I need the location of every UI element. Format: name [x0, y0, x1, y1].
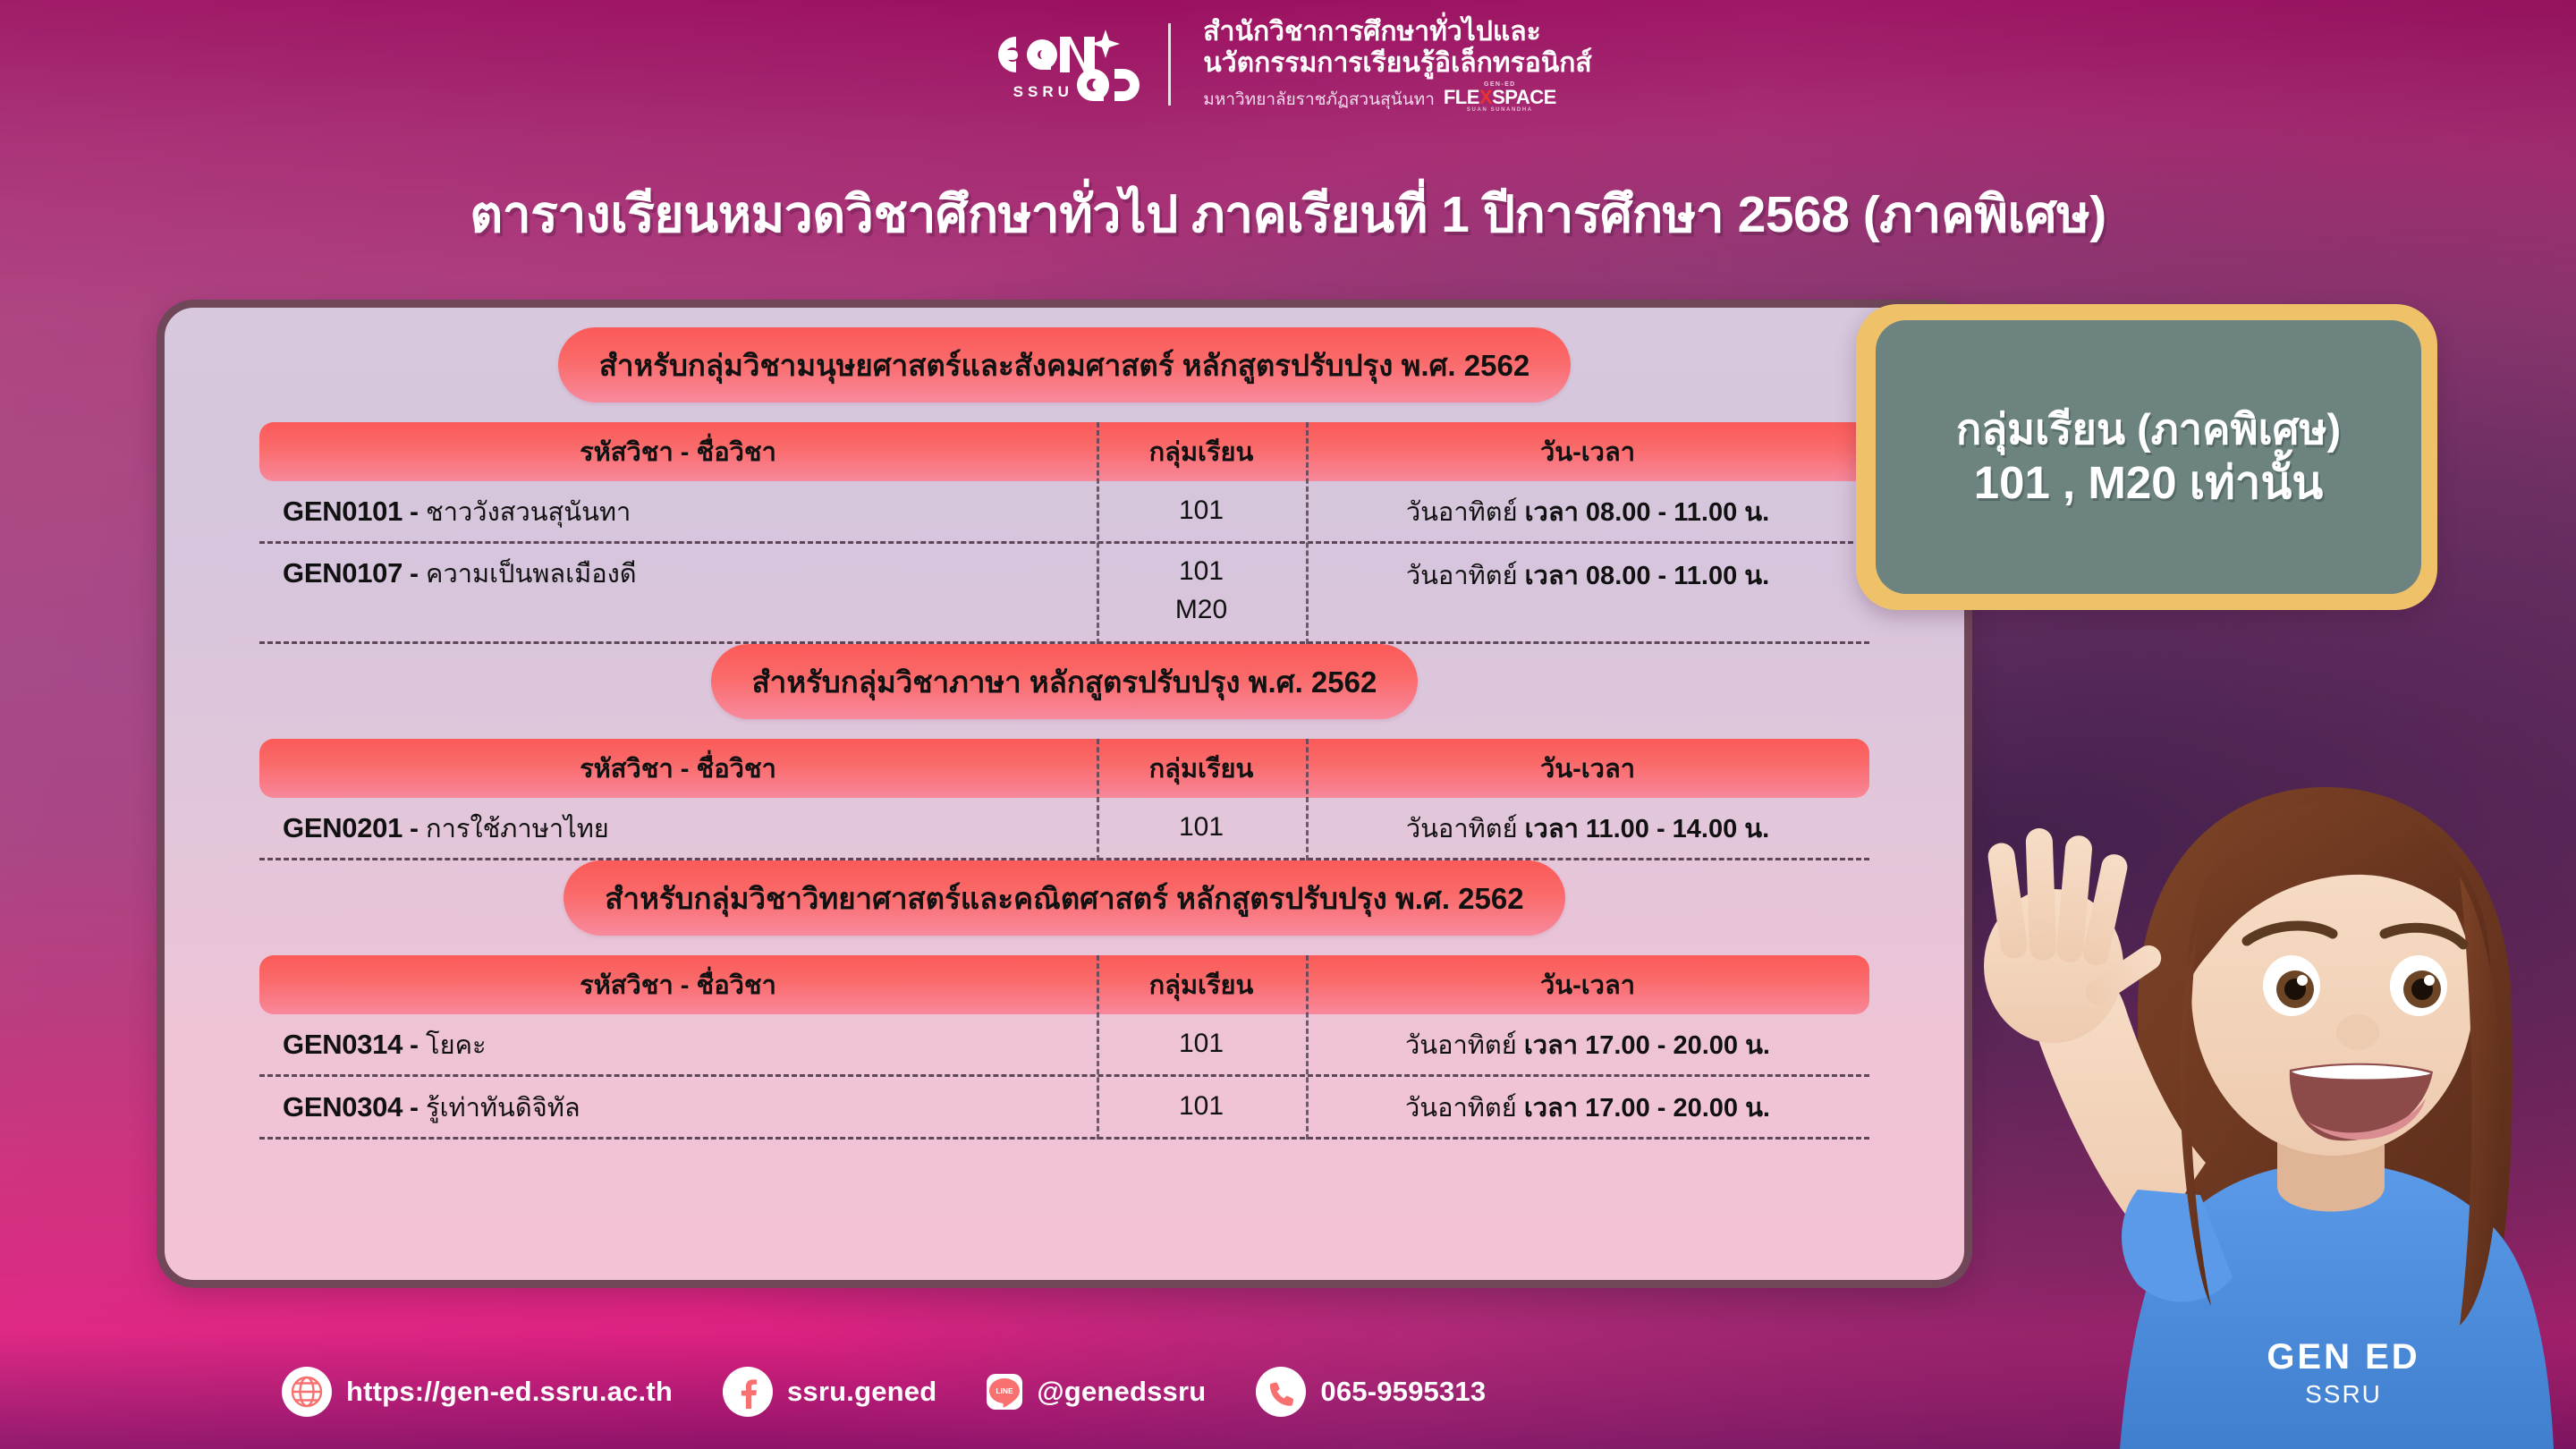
schedule-section: สำหรับกลุ่มวิชามนุษยศาสตร์และสังคมศาสตร์…: [165, 327, 1964, 644]
subject-name: ความเป็นพลเมืองดี: [426, 553, 637, 594]
page-title: ตารางเรียนหมวดวิชาศึกษาทั่วไป ภาคเรียนที…: [0, 174, 2576, 255]
organization-name-block: สำนักวิชาการศึกษาทั่วไปและ นวัตกรรมการเร…: [1203, 16, 1591, 113]
org-line-2: นวัตกรรมการเรียนรู้อิเล็กทรอนิกส์: [1203, 47, 1591, 79]
cell-group: 101: [1097, 809, 1306, 847]
gened-logo: SSRU: [984, 28, 1136, 101]
cell-group: 101M20: [1097, 553, 1306, 629]
phone-icon: [1256, 1367, 1306, 1417]
daytime-day: วันอาทิตย์: [1406, 498, 1525, 527]
daytime-time: เวลา 08.00 - 11.00 น.: [1525, 562, 1770, 590]
subject-name: รู้เท่าทันดิจิทัล: [426, 1087, 580, 1128]
column-header-subject: รหัสวิชา - ชื่อวิชา: [259, 964, 1097, 1005]
group-line: 101: [1097, 492, 1306, 530]
daytime-day: วันอาทิตย์: [1405, 1031, 1524, 1060]
cell-subject: GEN0314-โยคะ: [259, 1024, 1097, 1065]
flexspace-bottom-label: SUAN SUNANDHA: [1467, 107, 1533, 113]
contact-facebook-text: ssru.gened: [787, 1376, 936, 1408]
cell-group: 101: [1097, 1025, 1306, 1063]
column-header-group: กลุ่มเรียน: [1097, 964, 1306, 1005]
section-title-pill: สำหรับกลุ่มวิชาภาษา หลักสูตรปรับปรุง พ.ศ…: [711, 644, 1419, 719]
contact-phone-text: 065-9595313: [1320, 1376, 1486, 1408]
daytime-time: เวลา 08.00 - 11.00 น.: [1525, 498, 1770, 527]
university-name: มหาวิทยาลัยราชภัฏสวนสุนันทา: [1203, 86, 1435, 113]
ed-wordmark-icon: [1075, 62, 1141, 108]
table-header-row: รหัสวิชา - ชื่อวิชากลุ่มเรียนวัน-เวลา: [259, 739, 1869, 798]
column-header-subject: รหัสวิชา - ชื่อวิชา: [259, 748, 1097, 789]
daytime-time: เวลา 17.00 - 20.00 น.: [1524, 1031, 1770, 1060]
subject-dash: -: [410, 559, 419, 589]
column-header-subject: รหัสวิชา - ชื่อวิชา: [259, 431, 1097, 472]
flexspace-logo: GEN-ED FLEXSPACE SUAN SUNANDHA: [1444, 81, 1556, 113]
daytime-day: วันอาทิตย์: [1406, 562, 1525, 590]
org-line-1: สำนักวิชาการศึกษาทั่วไปและ: [1203, 16, 1591, 47]
table-row: GEN0101-ชาววังสวนสุนันทา101วันอาทิตย์ เว…: [259, 481, 1869, 544]
contact-line[interactable]: LINE @genedssru: [987, 1374, 1206, 1410]
column-header-group: กลุ่มเรียน: [1097, 748, 1306, 789]
svg-text:LINE: LINE: [996, 1386, 1014, 1395]
schedule-card: สำหรับกลุ่มวิชามนุษยศาสตร์และสังคมศาสตร์…: [157, 300, 1972, 1288]
badge-line-2: 101 , M20 เท่านั้น: [1974, 455, 2323, 510]
group-notice-badge-inner: กลุ่มเรียน (ภาคพิเศษ) 101 , M20 เท่านั้น: [1876, 320, 2421, 594]
table-row: GEN0201-การใช้ภาษาไทย101วันอาทิตย์ เวลา …: [259, 798, 1869, 860]
cell-daytime: วันอาทิตย์ เวลา 11.00 - 14.00 น.: [1306, 808, 1869, 849]
svg-text:SSRU: SSRU: [2305, 1380, 2382, 1408]
contact-website[interactable]: https://gen-ed.ssru.ac.th: [282, 1367, 673, 1417]
line-icon: LINE: [987, 1374, 1022, 1410]
logo-divider: [1168, 23, 1171, 106]
contact-facebook[interactable]: ssru.gened: [723, 1367, 936, 1417]
globe-icon: [282, 1367, 332, 1417]
cell-daytime: วันอาทิตย์ เวลา 08.00 - 11.00 น.: [1306, 491, 1869, 532]
contact-phone[interactable]: 065-9595313: [1256, 1367, 1486, 1417]
facebook-icon: [723, 1367, 773, 1417]
contact-bar: https://gen-ed.ssru.ac.th ssru.gened LIN…: [0, 1367, 1968, 1417]
schedule-sections-container: สำหรับกลุ่มวิชามนุษยศาสตร์และสังคมศาสตร์…: [165, 308, 1964, 1280]
section-title-pill: สำหรับกลุ่มวิชามนุษยศาสตร์และสังคมศาสตร์…: [558, 327, 1571, 402]
subject-code: GEN0107: [283, 557, 402, 589]
cell-subject: GEN0201-การใช้ภาษาไทย: [259, 808, 1097, 849]
cell-daytime: วันอาทิตย์ เวลา 17.00 - 20.00 น.: [1306, 1087, 1869, 1128]
contact-website-text: https://gen-ed.ssru.ac.th: [346, 1376, 673, 1408]
group-line: 101: [1097, 809, 1306, 847]
flexspace-x: X: [1479, 86, 1492, 108]
badge-line-1: กลุ่มเรียน (ภาคพิเศษ): [1956, 404, 2341, 454]
group-line: M20: [1097, 591, 1306, 630]
subject-dash: -: [410, 497, 419, 528]
subject-dash: -: [410, 1030, 419, 1061]
column-header-daytime: วัน-เวลา: [1306, 431, 1869, 472]
cell-daytime: วันอาทิตย์ เวลา 17.00 - 20.00 น.: [1306, 1024, 1869, 1065]
section-title-pill: สำหรับกลุ่มวิชาวิทยาศาสตร์และคณิตศาสตร์ …: [563, 860, 1564, 936]
contact-line-text: @genedssru: [1037, 1376, 1206, 1408]
column-separator: [1097, 422, 1099, 644]
schedule-table: รหัสวิชา - ชื่อวิชากลุ่มเรียนวัน-เวลาGEN…: [259, 422, 1869, 644]
subject-code: GEN0201: [283, 812, 402, 844]
table-header-row: รหัสวิชา - ชื่อวิชากลุ่มเรียนวัน-เวลา: [259, 422, 1869, 481]
subject-name: การใช้ภาษาไทย: [426, 808, 609, 849]
group-line: 101: [1097, 553, 1306, 591]
column-header-daytime: วัน-เวลา: [1306, 964, 1869, 1005]
column-header-group: กลุ่มเรียน: [1097, 431, 1306, 472]
subject-name: โยคะ: [426, 1024, 487, 1065]
table-row: GEN0314-โยคะ101วันอาทิตย์ เวลา 17.00 - 2…: [259, 1014, 1869, 1077]
group-line: 101: [1097, 1025, 1306, 1063]
header-logo-bar: SSRU สำนักวิชาการศึกษาทั่วไปและ นวัตกรรม…: [0, 16, 2576, 113]
subject-code: GEN0314: [283, 1029, 402, 1061]
subject-name: ชาววังสวนสุนันทา: [426, 491, 631, 532]
daytime-day: วันอาทิตย์: [1405, 1094, 1524, 1123]
subject-dash: -: [410, 1093, 419, 1123]
daytime-time: เวลา 17.00 - 20.00 น.: [1524, 1094, 1770, 1123]
flexspace-main-1: FLE: [1444, 86, 1479, 108]
flexspace-main-2: SPACE: [1492, 86, 1556, 108]
cell-subject: GEN0101-ชาววังสวนสุนันทา: [259, 491, 1097, 532]
logo-ssru-label: SSRU: [1013, 83, 1073, 101]
group-line: 101: [1097, 1088, 1306, 1126]
svg-text:GEN ED: GEN ED: [2267, 1337, 2419, 1377]
cell-daytime: วันอาทิตย์ เวลา 08.00 - 11.00 น.: [1306, 553, 1869, 596]
schedule-table: รหัสวิชา - ชื่อวิชากลุ่มเรียนวัน-เวลาGEN…: [259, 739, 1869, 860]
table-row: GEN0107-ความเป็นพลเมืองดี101M20วันอาทิตย…: [259, 544, 1869, 644]
schedule-table: รหัสวิชา - ชื่อวิชากลุ่มเรียนวัน-เวลาGEN…: [259, 955, 1869, 1140]
column-separator: [1097, 955, 1099, 1140]
cell-subject: GEN0304-รู้เท่าทันดิจิทัล: [259, 1087, 1097, 1128]
column-separator: [1306, 739, 1309, 860]
table-row: GEN0304-รู้เท่าทันดิจิทัล101วันอาทิตย์ เ…: [259, 1077, 1869, 1140]
subject-code: GEN0304: [283, 1091, 402, 1123]
daytime-time: เวลา 11.00 - 14.00 น.: [1525, 815, 1770, 843]
cell-group: 101: [1097, 1088, 1306, 1126]
cell-subject: GEN0107-ความเป็นพลเมืองดี: [259, 553, 1097, 594]
column-separator: [1306, 955, 1309, 1140]
table-body: GEN0101-ชาววังสวนสุนันทา101วันอาทิตย์ เว…: [259, 481, 1869, 644]
table-body: GEN0201-การใช้ภาษาไทย101วันอาทิตย์ เวลา …: [259, 798, 1869, 860]
column-header-daytime: วัน-เวลา: [1306, 748, 1869, 789]
cell-group: 101: [1097, 492, 1306, 530]
daytime-day: วันอาทิตย์: [1406, 815, 1525, 843]
column-separator: [1306, 422, 1309, 644]
group-notice-badge: กลุ่มเรียน (ภาคพิเศษ) 101 , M20 เท่านั้น: [1856, 304, 2437, 610]
schedule-section: สำหรับกลุ่มวิชาวิทยาศาสตร์และคณิตศาสตร์ …: [165, 860, 1964, 1140]
table-header-row: รหัสวิชา - ชื่อวิชากลุ่มเรียนวัน-เวลา: [259, 955, 1869, 1014]
subject-dash: -: [410, 814, 419, 844]
subject-code: GEN0101: [283, 496, 402, 528]
table-body: GEN0314-โยคะ101วันอาทิตย์ เวลา 17.00 - 2…: [259, 1014, 1869, 1140]
waving-student-character: GEN ED SSRU: [1843, 742, 2576, 1449]
schedule-section: สำหรับกลุ่มวิชาภาษา หลักสูตรปรับปรุง พ.ศ…: [165, 644, 1964, 860]
column-separator: [1097, 739, 1099, 860]
